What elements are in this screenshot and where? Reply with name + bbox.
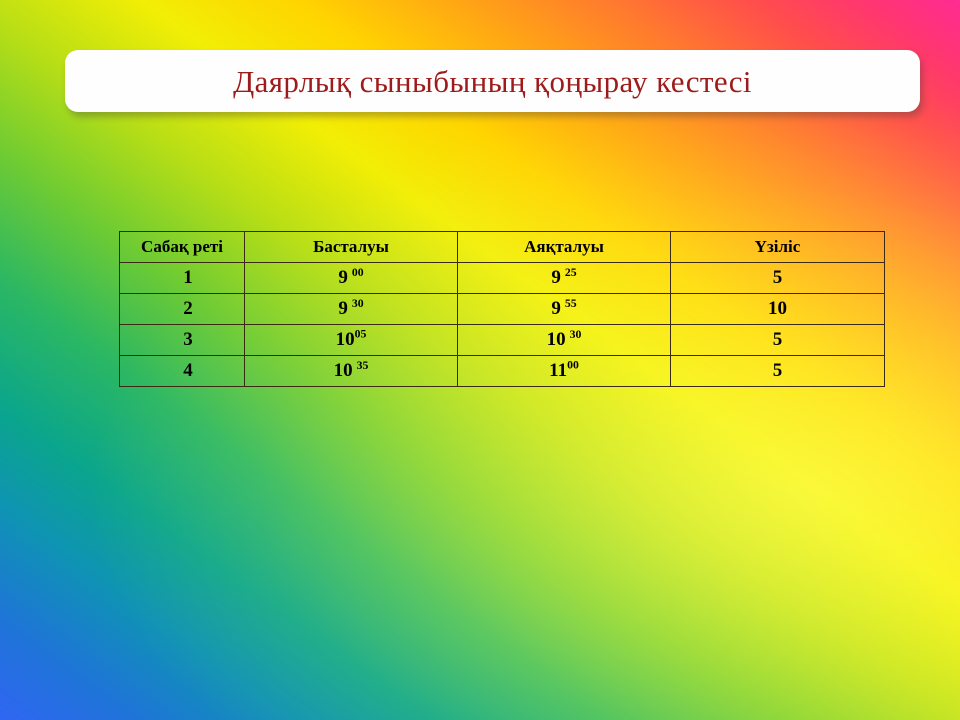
end-time-value: 1100 <box>549 360 579 382</box>
end-time-value: 1030 <box>547 329 582 351</box>
time-hour: 9 <box>551 298 561 319</box>
cell-end-time: 1030 <box>458 325 671 356</box>
time-minute: 00 <box>352 266 364 279</box>
presentation-slide: Даярлық сыныбының қоңырау кестесі Сабақ … <box>0 0 960 720</box>
start-time-value: 1005 <box>336 329 367 351</box>
cell-break-duration: 5 <box>671 263 885 294</box>
column-header-break: Үзіліс <box>671 232 885 263</box>
table-row: 3100510305 <box>120 325 885 356</box>
column-header-start-time: Басталуы <box>245 232 458 263</box>
time-hour: 10 <box>547 329 566 350</box>
start-time-value: 900 <box>338 267 363 289</box>
start-time-value: 930 <box>338 298 363 320</box>
time-minute: 30 <box>352 297 364 310</box>
time-minute: 55 <box>565 297 577 310</box>
time-hour: 10 <box>334 360 353 381</box>
time-minute: 00 <box>567 359 579 372</box>
break-duration-value: 5 <box>773 267 783 288</box>
time-hour: 9 <box>338 298 348 319</box>
page-title: Даярлық сыныбының қоңырау кестесі <box>233 66 752 97</box>
table-row: 293095510 <box>120 294 885 325</box>
time-minute: 05 <box>355 328 367 341</box>
lesson-order-value: 2 <box>183 298 193 320</box>
time-hour: 9 <box>338 267 348 288</box>
cell-start-time: 1035 <box>245 356 458 387</box>
cell-lesson-order: 3 <box>120 325 245 356</box>
end-time-value: 925 <box>551 267 576 289</box>
column-header-end-time: Аяқталуы <box>458 232 671 263</box>
break-duration-value: 5 <box>773 360 783 381</box>
table-row: 19009255 <box>120 263 885 294</box>
lesson-order-value: 1 <box>183 267 193 289</box>
table-header: Сабақ реті Басталуы Аяқталуы Үзіліс <box>120 232 885 263</box>
table-row: 4103511005 <box>120 356 885 387</box>
time-minute: 25 <box>565 266 577 279</box>
time-minute: 35 <box>357 359 369 372</box>
time-hour: 10 <box>336 329 355 350</box>
table-body: 1900925529309551031005103054103511005 <box>120 263 885 387</box>
bell-schedule-table: Сабақ реті Басталуы Аяқталуы Үзіліс 1900… <box>119 231 885 387</box>
start-time-value: 1035 <box>334 360 369 382</box>
break-duration-value: 10 <box>768 298 787 319</box>
lesson-order-value: 4 <box>183 360 193 382</box>
cell-lesson-order: 1 <box>120 263 245 294</box>
cell-end-time: 925 <box>458 263 671 294</box>
cell-end-time: 955 <box>458 294 671 325</box>
cell-break-duration: 10 <box>671 294 885 325</box>
column-header-lesson-order: Сабақ реті <box>120 232 245 263</box>
cell-end-time: 1100 <box>458 356 671 387</box>
end-time-value: 955 <box>551 298 576 320</box>
cell-start-time: 900 <box>245 263 458 294</box>
time-hour: 11 <box>549 360 567 381</box>
break-duration-value: 5 <box>773 329 783 350</box>
cell-break-duration: 5 <box>671 325 885 356</box>
cell-lesson-order: 2 <box>120 294 245 325</box>
cell-break-duration: 5 <box>671 356 885 387</box>
title-plate: Даярлық сыныбының қоңырау кестесі <box>65 50 920 112</box>
time-minute: 30 <box>570 328 582 341</box>
cell-start-time: 930 <box>245 294 458 325</box>
cell-start-time: 1005 <box>245 325 458 356</box>
cell-lesson-order: 4 <box>120 356 245 387</box>
table-header-row: Сабақ реті Басталуы Аяқталуы Үзіліс <box>120 232 885 263</box>
lesson-order-value: 3 <box>183 329 193 351</box>
time-hour: 9 <box>551 267 561 288</box>
